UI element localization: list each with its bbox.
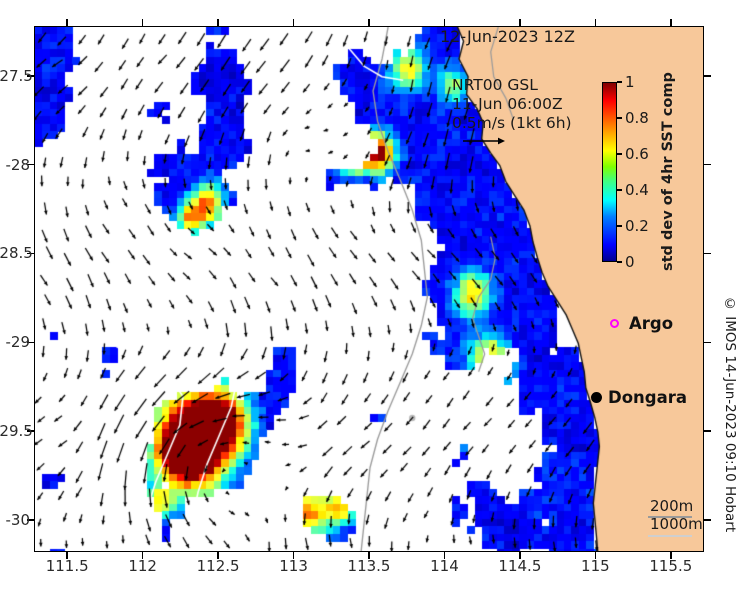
colorbar-tick [617, 153, 622, 155]
colorbar-tick-label: 0 [625, 253, 635, 271]
x-axis-tick-top [670, 19, 672, 26]
depth-label-200m: 200m [650, 497, 703, 515]
argo-marker-icon [610, 319, 619, 328]
title-date-label: 12-Jun-2023 12Z [440, 27, 575, 46]
y-axis-tick-label: -29 [0, 333, 30, 351]
reference-arrow-icon [462, 136, 506, 146]
x-axis-tick-top [595, 19, 597, 26]
x-axis-tick-top [293, 19, 295, 26]
x-axis-tick-label: 112.5 [197, 557, 240, 575]
colorbar-tick-label: 0.2 [625, 217, 649, 235]
colorbar-tick-label: 0.4 [625, 181, 649, 199]
y-axis-tick-label: -29.5 [0, 422, 30, 440]
x-axis-tick-top [66, 19, 68, 26]
colorbar-tick [617, 81, 622, 83]
x-axis-tick-top [217, 19, 219, 26]
y-axis-tick-right [704, 75, 711, 77]
y-axis-tick-right [704, 164, 711, 166]
colorbar-group: std dev of 4hr SST comp 00.20.40.60.81 [602, 82, 702, 272]
x-axis-tick-label: 112 [128, 557, 157, 575]
colorbar-tick [617, 189, 622, 191]
x-axis-tick-label: 113.5 [348, 557, 391, 575]
colorbar-tick-label: 1 [625, 73, 635, 91]
x-axis-tick-label: 115.5 [649, 557, 692, 575]
x-axis-tick-label: 114.5 [498, 557, 541, 575]
colorbar-tick [617, 261, 622, 263]
x-axis-tick-top [519, 19, 521, 26]
colorbar-gradient [602, 82, 617, 262]
x-axis-tick-top [142, 19, 144, 26]
y-axis-tick-right [704, 430, 711, 432]
y-axis-tick-label: -28.5 [0, 244, 30, 262]
y-axis-tick-label: -30 [0, 511, 30, 529]
colorbar-title: std dev of 4hr SST comp [660, 82, 676, 262]
legend-item-argo: Argo [610, 314, 673, 333]
y-axis-tick-right [704, 342, 711, 344]
sst-variance-map-figure: 12-Jun-2023 12Z NRT00 GSL 11-Jun 06:00Z … [0, 0, 740, 592]
colorbar-tick-label: 0.6 [625, 145, 649, 163]
x-axis-tick-top [368, 19, 370, 26]
x-axis-tick-top [444, 19, 446, 26]
y-axis-tick-label: -28 [0, 156, 30, 174]
dongara-city-label: Dongara [608, 388, 687, 407]
x-axis-tick-label: 115 [581, 557, 610, 575]
contour-sample-1000m [648, 535, 692, 537]
dongara-marker-icon [591, 392, 602, 403]
colorbar-tick [617, 225, 622, 227]
x-axis-tick-label: 113 [279, 557, 308, 575]
bathymetry-legend: 200m 1000m [650, 497, 703, 533]
y-axis-tick-right [704, 519, 711, 521]
vector-annotation-block: NRT00 GSL 11-Jun 06:00Z 0.5m/s (1kt 6h) [452, 76, 572, 133]
y-axis-tick-label: -27.5 [0, 67, 30, 85]
argo-legend-label: Argo [629, 314, 673, 333]
credit-text: © IMOS 14-Jun-2023 09:10 Hobart [722, 296, 738, 532]
vector-time-label: 11-Jun 06:00Z [452, 95, 572, 114]
x-axis-tick-label: 111.5 [46, 557, 89, 575]
depth-label-1000m: 1000m [650, 515, 703, 533]
x-axis-tick-label: 114 [430, 557, 459, 575]
colorbar-tick [617, 117, 622, 119]
vector-scale-label: 0.5m/s (1kt 6h) [452, 114, 572, 133]
colorbar-tick-label: 0.8 [625, 109, 649, 127]
vector-source-label: NRT00 GSL [452, 76, 572, 95]
map-label-dongara: Dongara [591, 388, 687, 407]
y-axis-tick-right [704, 253, 711, 255]
